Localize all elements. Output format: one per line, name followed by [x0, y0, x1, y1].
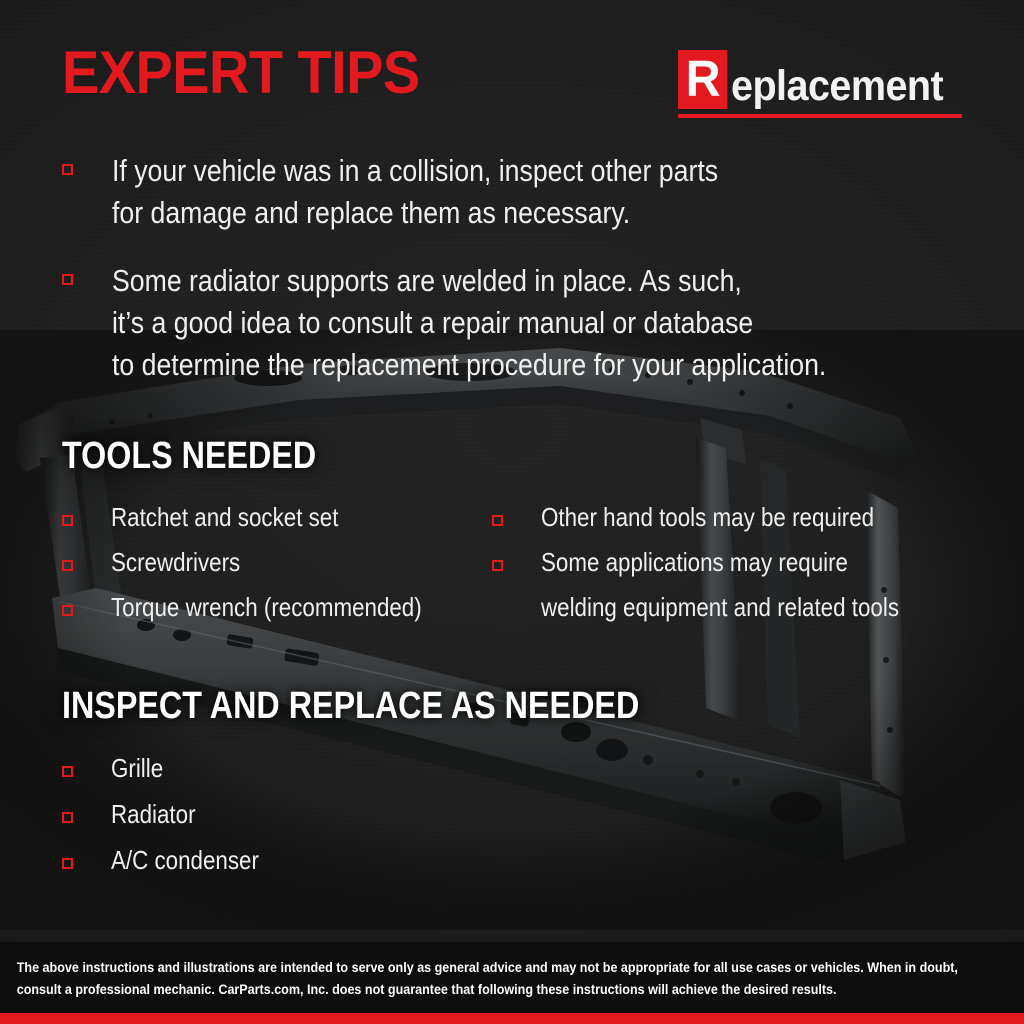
bullet-square-icon — [62, 560, 73, 571]
bullet-square-icon — [62, 858, 73, 869]
tools-list-left: Ratchet and socket set Screwdrivers Torq… — [62, 504, 492, 639]
logo-wordmark: eplacement — [731, 50, 943, 113]
section-heading-inspect: INSPECT AND REPLACE AS NEEDED — [62, 686, 639, 726]
bullet-square-icon — [492, 515, 503, 526]
list-item: Radiator — [62, 801, 562, 828]
logo-initial: R — [678, 50, 727, 109]
list-item-label: Ratchet and socket set — [111, 504, 338, 531]
list-item: A/C condenser — [62, 847, 562, 874]
bullet-square-icon — [62, 274, 73, 285]
footer-accent-bar — [0, 1013, 1024, 1024]
expert-tips-card: EXPERT TIPS R eplacement If your vehicle… — [0, 0, 1024, 1024]
list-item: Ratchet and socket set — [62, 504, 492, 531]
list-item-label: Grille — [111, 755, 163, 782]
list-item-label: Torque wrench (recommended) — [111, 594, 422, 621]
list-item-label: Radiator — [111, 801, 196, 828]
list-item: Other hand tools may be required — [492, 504, 992, 531]
bullet-square-icon — [62, 605, 73, 616]
list-item: Grille — [62, 755, 562, 782]
footer-disclaimer-bar: The above instructions and illustrations… — [0, 942, 1024, 1024]
list-item-line2: welding equipment and related tools — [541, 594, 899, 621]
bullet-square-icon — [62, 515, 73, 526]
replacement-logo: R eplacement — [678, 50, 962, 118]
list-item-label: Screwdrivers — [111, 549, 240, 576]
tools-list-right: Other hand tools may be required Some ap… — [492, 504, 992, 639]
list-item: Some radiator supports are welded in pla… — [62, 260, 962, 386]
intro-bullet-list: If your vehicle was in a collision, insp… — [62, 150, 962, 412]
list-item-label: Some applications may requirewelding equ… — [541, 549, 899, 621]
footer-disclaimer-text: The above instructions and illustrations… — [0, 942, 1019, 1001]
bullet-square-icon — [62, 812, 73, 823]
list-item-label: If your vehicle was in a collision, insp… — [112, 150, 718, 234]
list-item-label: Some radiator supports are welded in pla… — [112, 260, 826, 386]
list-item: Screwdrivers — [62, 549, 492, 576]
inspect-list: Grille Radiator A/C condenser — [62, 755, 562, 893]
list-item: Some applications may requirewelding equ… — [492, 549, 992, 621]
bullet-square-icon — [62, 766, 73, 777]
list-item: If your vehicle was in a collision, insp… — [62, 150, 962, 234]
logo-underline — [678, 114, 962, 118]
bullet-square-icon — [62, 164, 73, 175]
list-item: Torque wrench (recommended) — [62, 594, 492, 621]
list-item-label: A/C condenser — [111, 847, 259, 874]
page-title: EXPERT TIPS — [62, 42, 420, 104]
logo-row: R eplacement — [678, 50, 962, 113]
bullet-square-icon — [492, 560, 503, 571]
list-item-label: Other hand tools may be required — [541, 504, 874, 531]
content-layer: EXPERT TIPS R eplacement If your vehicle… — [0, 0, 1024, 1024]
list-item-line1: Some applications may require — [541, 547, 848, 577]
section-heading-tools: TOOLS NEEDED — [62, 436, 316, 476]
